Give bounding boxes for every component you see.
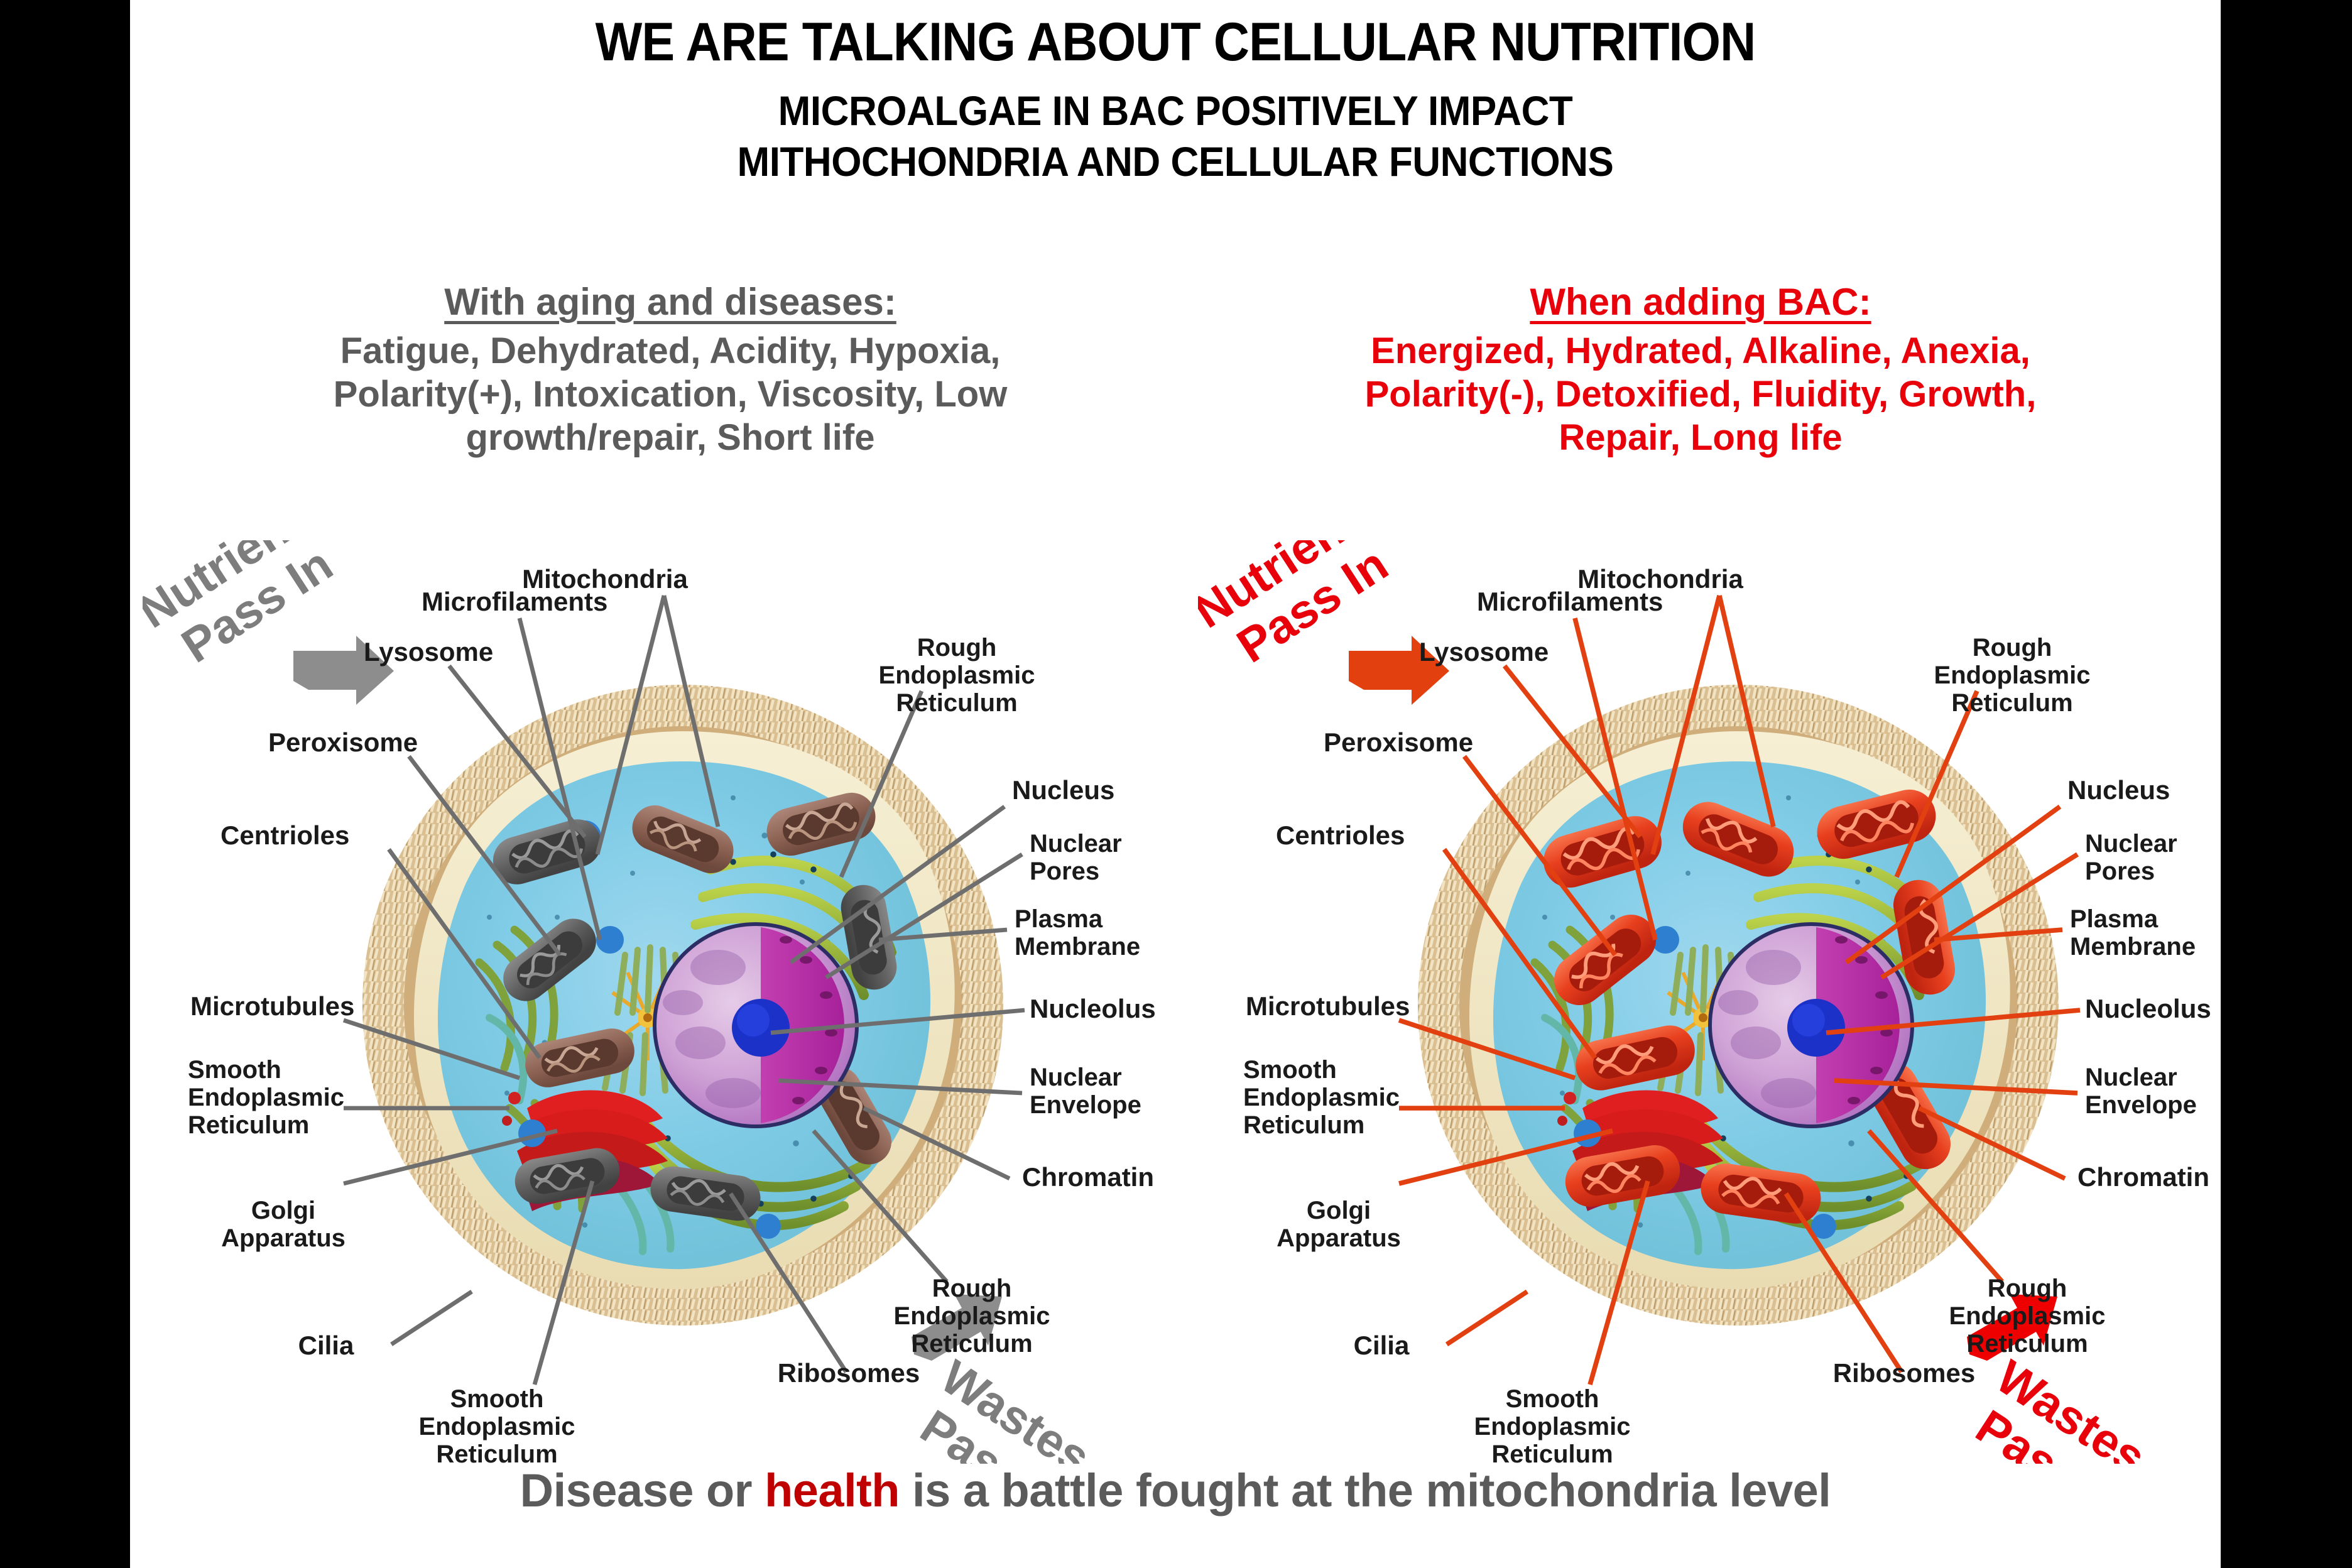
nucleus-right <box>1708 922 1914 1128</box>
title-block: WE ARE TALKING ABOUT CELLULAR NUTRITION … <box>130 15 2221 187</box>
right-body-line-1: Energized, Hydrated, Alkaline, Anexia, <box>1198 329 2203 373</box>
left-body-line-2: Polarity(+), Intoxication, Viscosity, Lo… <box>168 373 1173 416</box>
label-chromatin: Chromatin <box>2077 1162 2209 1192</box>
wastes-pass-out-label-left: Wastes Pass Out <box>903 1350 1143 1464</box>
label-smooth-er-left-1: Smooth <box>1243 1056 1337 1084</box>
right-body-line-2: Polarity(-), Detoxified, Fluidity, Growt… <box>1198 373 2203 416</box>
left-body-line-3: growth/repair, Short life <box>168 416 1173 459</box>
label-golgi-2: Apparatus <box>221 1224 346 1252</box>
left-black-bar <box>0 0 130 1568</box>
label-smooth-er-bottom-3: Reticulum <box>436 1440 557 1464</box>
label-nuclear-pores-2: Pores <box>1030 857 1099 885</box>
right-column-text: When adding BAC: Energized, Hydrated, Al… <box>1198 281 2203 459</box>
label-plasma-membrane-1: Plasma <box>2070 905 2159 933</box>
page-title: WE ARE TALKING ABOUT CELLULAR NUTRITION <box>214 15 2137 69</box>
label-rough-er-bottom-1: Rough <box>932 1275 1012 1302</box>
label-microfilaments: Microfilaments <box>422 587 607 616</box>
label-rough-er-top-2: Endoplasmic <box>1934 661 2091 689</box>
caption-highlight: health <box>765 1464 900 1516</box>
left-column-body: Fatigue, Dehydrated, Acidity, Hypoxia, P… <box>168 329 1173 459</box>
label-rough-er-top-1: Rough <box>917 634 997 661</box>
cell-diagram-bac: Nutrients Pass In Wastes Pass Out <box>1198 540 2228 1464</box>
label-golgi-1: Golgi <box>251 1197 315 1224</box>
caption-part-2: is a battle fought at the mitochondria l… <box>900 1464 1831 1516</box>
label-smooth-er-left-1: Smooth <box>188 1056 281 1084</box>
cell-body-right <box>1418 685 2059 1326</box>
label-golgi-2: Apparatus <box>1277 1224 1401 1252</box>
label-rough-er-top-2: Endoplasmic <box>879 661 1035 689</box>
label-golgi-1: Golgi <box>1307 1197 1371 1224</box>
label-plasma-membrane-2: Membrane <box>1015 933 1140 961</box>
label-ribosomes: Ribosomes <box>778 1358 920 1388</box>
label-smooth-er-bottom-3: Reticulum <box>1491 1440 1613 1464</box>
label-nuclear-pores-1: Nuclear <box>2085 830 2177 857</box>
label-peroxisome: Peroxisome <box>1324 727 1473 757</box>
left-column-text: With aging and diseases: Fatigue, Dehydr… <box>168 281 1173 459</box>
subtitle-block: MICROALGAE IN BAC POSITIVELY IMPACT MITH… <box>130 85 2221 187</box>
label-smooth-er-bottom-2: Endoplasmic <box>1474 1413 1631 1440</box>
label-cilia: Cilia <box>298 1331 354 1360</box>
label-smooth-er-left-3: Reticulum <box>188 1111 309 1139</box>
subtitle-line-1: MICROALGAE IN BAC POSITIVELY IMPACT <box>193 85 2158 136</box>
left-body-line-1: Fatigue, Dehydrated, Acidity, Hypoxia, <box>168 329 1173 373</box>
label-rough-er-bottom-2: Endoplasmic <box>894 1302 1050 1330</box>
label-smooth-er-bottom-2: Endoplasmic <box>419 1413 575 1440</box>
label-chromatin: Chromatin <box>1022 1162 1154 1192</box>
label-nucleolus: Nucleolus <box>1030 994 1156 1023</box>
label-rough-er-bottom-1: Rough <box>1988 1275 2067 1302</box>
label-nuclear-envelope-1: Nuclear <box>2085 1064 2177 1091</box>
label-cilia: Cilia <box>1354 1331 1410 1360</box>
caption-part-1: Disease or <box>520 1464 765 1516</box>
slide-canvas: WE ARE TALKING ABOUT CELLULAR NUTRITION … <box>130 0 2221 1568</box>
label-ribosomes: Ribosomes <box>1833 1358 1975 1388</box>
nucleus-left <box>653 922 859 1128</box>
label-plasma-membrane-2: Membrane <box>2070 933 2196 961</box>
label-nucleus: Nucleus <box>1012 775 1114 805</box>
label-lysosome: Lysosome <box>1419 637 1549 667</box>
right-column-body: Energized, Hydrated, Alkaline, Anexia, P… <box>1198 329 2203 459</box>
label-rough-er-bottom-3: Reticulum <box>911 1330 1032 1358</box>
left-column-heading: With aging and diseases: <box>168 281 1173 323</box>
label-microtubules: Microtubules <box>1246 991 1410 1021</box>
label-rough-er-top-1: Rough <box>1973 634 2052 661</box>
label-smooth-er-bottom-1: Smooth <box>450 1385 544 1413</box>
label-nucleus: Nucleus <box>2067 775 2170 805</box>
cell-diagram-aging: Nutrients Pass In Wastes Pass Out <box>143 540 1173 1464</box>
label-smooth-er-left-2: Endoplasmic <box>188 1084 344 1111</box>
cell-body-left <box>362 685 1003 1326</box>
label-nuclear-envelope-2: Envelope <box>1030 1091 1141 1119</box>
right-black-bar <box>2221 0 2352 1568</box>
label-centrioles: Centrioles <box>220 820 349 850</box>
label-smooth-er-left-2: Endoplasmic <box>1243 1084 1400 1111</box>
label-rough-er-top-3: Reticulum <box>896 689 1017 717</box>
label-microfilaments: Microfilaments <box>1477 587 1663 616</box>
right-column-heading: When adding BAC: <box>1198 281 2203 323</box>
bottom-caption: Disease or health is a battle fought at … <box>130 1464 2221 1517</box>
label-rough-er-bottom-2: Endoplasmic <box>1949 1302 2106 1330</box>
label-nuclear-envelope-1: Nuclear <box>1030 1064 1122 1091</box>
label-nuclear-envelope-2: Envelope <box>2085 1091 2197 1119</box>
label-peroxisome: Peroxisome <box>268 727 418 757</box>
right-body-line-3: Repair, Long life <box>1198 416 2203 459</box>
subtitle-line-2: MITHOCHONDRIA AND CELLULAR FUNCTIONS <box>193 136 2158 187</box>
label-smooth-er-left-3: Reticulum <box>1243 1111 1364 1139</box>
label-lysosome: Lysosome <box>364 637 493 667</box>
wastes-pass-out-label-right: Wastes Pass Out <box>1958 1350 2198 1464</box>
label-nucleolus: Nucleolus <box>2085 994 2211 1023</box>
label-centrioles: Centrioles <box>1276 820 1405 850</box>
label-rough-er-top-3: Reticulum <box>1951 689 2072 717</box>
label-nuclear-pores-2: Pores <box>2085 857 2155 885</box>
label-rough-er-bottom-3: Reticulum <box>1966 1330 2088 1358</box>
label-microtubules: Microtubules <box>190 991 354 1021</box>
label-nuclear-pores-1: Nuclear <box>1030 830 1122 857</box>
label-plasma-membrane-1: Plasma <box>1015 905 1103 933</box>
label-smooth-er-bottom-1: Smooth <box>1506 1385 1599 1413</box>
